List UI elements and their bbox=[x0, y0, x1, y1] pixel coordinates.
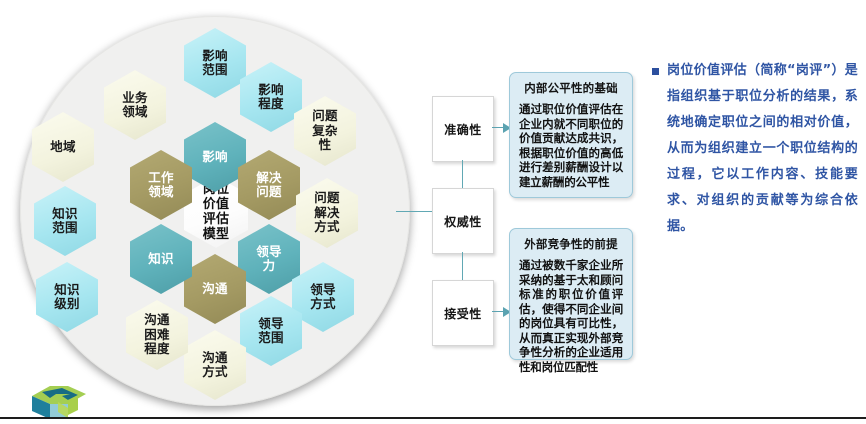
hex-inner-knowledge-label: 知识 bbox=[146, 252, 175, 267]
hex-outer-communication-method-label: 沟通方式 bbox=[200, 351, 229, 380]
hex-outer-problem-complexity-label: 问题复杂性 bbox=[310, 109, 339, 153]
callout-internal-equity-body: 通过职位价值评估在企业内就不同职位的价值贡献达成共识，根据职位价值的高低进行差别… bbox=[519, 102, 623, 189]
hex-outer-knowledge-scope[interactable]: 知识范围 bbox=[34, 186, 96, 256]
square-bullet-icon bbox=[652, 68, 659, 75]
hex-outer-problem-complexity[interactable]: 问题复杂性 bbox=[294, 96, 356, 166]
hex-inner-work-domain[interactable]: 工作领域 bbox=[130, 150, 192, 220]
wheel-to-chain-connector bbox=[396, 211, 432, 212]
hex-outer-influence-scope[interactable]: 影响范围 bbox=[184, 28, 246, 98]
callout-internal-equity-title: 内部公平性的基础 bbox=[519, 80, 623, 96]
hex-inner-communication[interactable]: 沟通 bbox=[184, 254, 246, 324]
hex-inner-work-domain-label: 工作领域 bbox=[146, 171, 175, 200]
callout-external-competitiveness-body: 通过被数千家企业所采纳的基于太和顾问标准的职位价值评估，使得不同企业间的岗位具有… bbox=[519, 258, 623, 374]
hex-inner-knowledge[interactable]: 知识 bbox=[130, 224, 192, 294]
hex-outer-influence-degree[interactable]: 影响程度 bbox=[240, 62, 302, 132]
hex-outer-communication-difficulty-label: 沟通困难程度 bbox=[142, 313, 171, 357]
hex-inner-leadership[interactable]: 领导力 bbox=[238, 224, 300, 294]
slide-canvas: 岗位价值评估模型 影响 解决问题 领导力 沟通 知识 工作领域 影响范围 影响程… bbox=[0, 0, 866, 424]
right-note-pane: 岗位价值评估（简称“岗评”）是指组织基于职位分析的结果，系统地确定职位之间的相对… bbox=[652, 58, 858, 240]
company-cube-logo bbox=[28, 382, 90, 422]
chain-box-authority-label: 权威性 bbox=[444, 213, 482, 230]
hex-inner-leadership-label: 领导力 bbox=[254, 245, 283, 274]
slide-bottom-rule bbox=[0, 417, 866, 419]
hex-outer-knowledge-scope-label: 知识范围 bbox=[50, 207, 79, 236]
hex-outer-leadership-style-label: 领导方式 bbox=[308, 283, 337, 312]
hex-outer-leadership-scope-label: 领导范围 bbox=[256, 317, 285, 346]
hex-inner-influence[interactable]: 影响 bbox=[184, 122, 246, 192]
hex-outer-knowledge-level-label: 知识级别 bbox=[52, 283, 81, 312]
hex-inner-influence-label: 影响 bbox=[200, 150, 229, 165]
hex-outer-communication-difficulty[interactable]: 沟通困难程度 bbox=[126, 300, 188, 370]
chain-connector-1 bbox=[462, 160, 463, 188]
hex-outer-influence-degree-label: 影响程度 bbox=[256, 83, 285, 112]
chain-box-accuracy[interactable]: 准确性 bbox=[432, 96, 494, 162]
chain-box-acceptance[interactable]: 接受性 bbox=[432, 280, 494, 346]
chain-box-authority[interactable]: 权威性 bbox=[432, 188, 494, 254]
hex-outer-problem-method[interactable]: 问题解决方式 bbox=[296, 178, 358, 248]
chain-box-accuracy-label: 准确性 bbox=[444, 121, 482, 138]
chain-box-acceptance-label: 接受性 bbox=[444, 305, 482, 322]
hex-outer-communication-method[interactable]: 沟通方式 bbox=[184, 330, 246, 400]
callout-internal-equity[interactable]: 内部公平性的基础 通过职位价值评估在企业内就不同职位的价值贡献达成共识，根据职位… bbox=[509, 72, 633, 198]
hex-inner-communication-label: 沟通 bbox=[200, 282, 229, 297]
chain-connector-2 bbox=[462, 252, 463, 280]
hex-outer-business-domain-label: 业务领域 bbox=[120, 91, 149, 120]
right-note-text: 岗位价值评估（简称“岗评”）是指组织基于职位分析的结果，系统地确定职位之间的相对… bbox=[652, 58, 858, 240]
callout-external-competitiveness[interactable]: 外部竞争性的前提 通过被数千家企业所采纳的基于太和顾问标准的职位价值评估，使得不… bbox=[509, 228, 633, 360]
hex-outer-business-domain[interactable]: 业务领域 bbox=[104, 70, 166, 140]
hex-outer-region-label: 地域 bbox=[48, 140, 77, 155]
hex-inner-problem-solving-label: 解决问题 bbox=[254, 171, 283, 200]
hex-outer-knowledge-level[interactable]: 知识级别 bbox=[36, 262, 98, 332]
hex-outer-problem-method-label: 问题解决方式 bbox=[312, 191, 341, 235]
hex-outer-influence-scope-label: 影响范围 bbox=[200, 49, 229, 78]
hex-outer-region[interactable]: 地域 bbox=[32, 112, 94, 182]
callout-external-competitiveness-title: 外部竞争性的前提 bbox=[519, 236, 623, 252]
